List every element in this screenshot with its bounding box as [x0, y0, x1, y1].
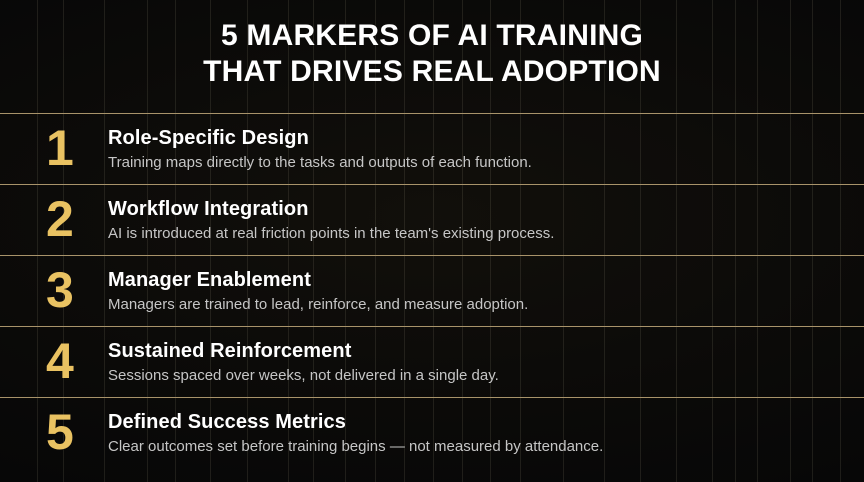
marker-number: 3	[46, 265, 104, 315]
marker-text-block: Sustained ReinforcementSessions spaced o…	[104, 339, 864, 386]
marker-text-block: Role-Specific DesignTraining maps direct…	[104, 126, 864, 173]
marker-number: 1	[46, 123, 104, 173]
markers-list: 1Role-Specific DesignTraining maps direc…	[0, 113, 864, 468]
marker-heading: Workflow Integration	[108, 197, 864, 221]
marker-number: 4	[46, 336, 104, 386]
marker-heading: Defined Success Metrics	[108, 410, 864, 434]
page-title-line-1: 5 MARKERS OF AI TRAINING	[0, 18, 864, 54]
marker-heading: Manager Enablement	[108, 268, 864, 292]
marker-text-block: Defined Success MetricsClear outcomes se…	[104, 410, 864, 457]
marker-heading: Sustained Reinforcement	[108, 339, 864, 363]
marker-row: 1Role-Specific DesignTraining maps direc…	[0, 113, 864, 184]
marker-text-block: Workflow IntegrationAI is introduced at …	[104, 197, 864, 244]
marker-description: Sessions spaced over weeks, not delivere…	[108, 365, 864, 386]
marker-row: 4Sustained ReinforcementSessions spaced …	[0, 326, 864, 397]
marker-number: 2	[46, 194, 104, 244]
marker-number: 5	[46, 407, 104, 457]
marker-description: Clear outcomes set before training begin…	[108, 436, 864, 457]
page-title: 5 MARKERS OF AI TRAINING THAT DRIVES REA…	[0, 18, 864, 90]
marker-description: Training maps directly to the tasks and …	[108, 152, 864, 173]
page-title-line-2: THAT DRIVES REAL ADOPTION	[0, 54, 864, 90]
marker-description: AI is introduced at real friction points…	[108, 223, 864, 244]
marker-heading: Role-Specific Design	[108, 126, 864, 150]
marker-row: 5Defined Success MetricsClear outcomes s…	[0, 397, 864, 468]
marker-description: Managers are trained to lead, reinforce,…	[108, 294, 864, 315]
marker-text-block: Manager EnablementManagers are trained t…	[104, 268, 864, 315]
marker-row: 2Workflow IntegrationAI is introduced at…	[0, 184, 864, 255]
marker-row: 3Manager EnablementManagers are trained …	[0, 255, 864, 326]
